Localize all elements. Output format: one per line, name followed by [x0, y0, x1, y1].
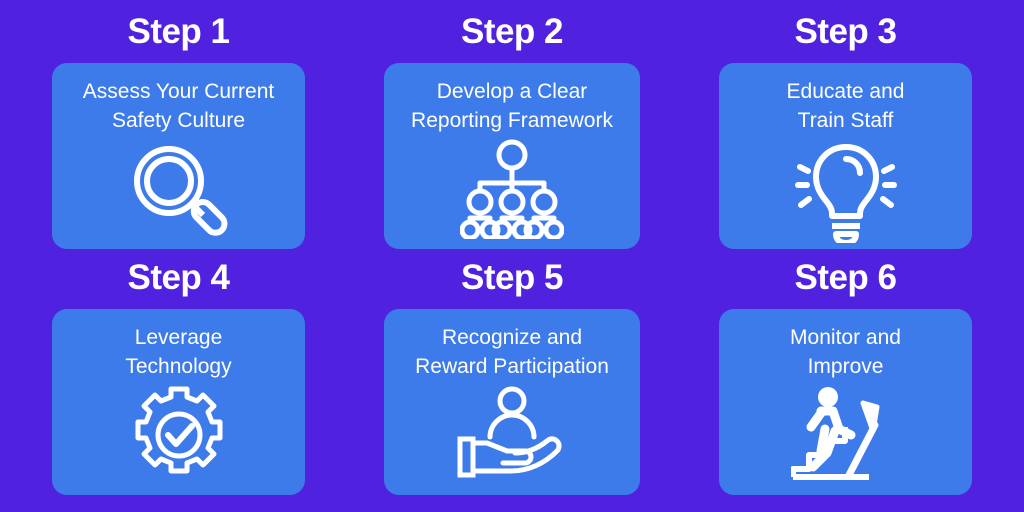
step-title-3: Step 3 [794, 14, 896, 49]
step-card-text-2: Develop a Clear Reporting Framework [411, 77, 613, 135]
magnifier-icon [62, 139, 295, 243]
step-block-5: Step 5 Recognize and Reward Participatio… [384, 246, 640, 512]
step-card-2[interactable]: Develop a Clear Reporting Framework [384, 63, 640, 249]
steps-row-bottom: Step 4 Leverage Technology Step 5 Recogn… [0, 246, 1024, 512]
steps-row-top: Step 1 Assess Your Current Safety Cultur… [0, 0, 1024, 246]
step-card-text-1: Assess Your Current Safety Culture [83, 77, 274, 135]
gear-check-icon [62, 385, 295, 485]
step-title-2: Step 2 [461, 14, 563, 49]
step-card-5[interactable]: Recognize and Reward Participation [384, 309, 640, 495]
org-chart-icon [394, 139, 630, 239]
step-block-1: Step 1 Assess Your Current Safety Cultur… [52, 0, 305, 246]
hand-person-icon [394, 385, 630, 481]
stairs-progress-icon [729, 385, 962, 485]
step-card-text-3: Educate and Train Staff [787, 77, 905, 135]
step-card-1[interactable]: Assess Your Current Safety Culture [52, 63, 305, 249]
step-block-2: Step 2 Develop a Clear Reporting Framewo… [384, 0, 640, 246]
step-block-4: Step 4 Leverage Technology [52, 246, 305, 512]
step-title-4: Step 4 [127, 260, 229, 295]
step-card-6[interactable]: Monitor and Improve [719, 309, 972, 495]
steps-infographic: Step 1 Assess Your Current Safety Cultur… [0, 0, 1024, 512]
lightbulb-icon [729, 139, 962, 243]
step-title-5: Step 5 [461, 260, 563, 295]
step-block-3: Step 3 Educate and Train Staff [719, 0, 972, 246]
step-card-text-6: Monitor and Improve [790, 323, 901, 381]
step-card-text-4: Leverage Technology [125, 323, 231, 381]
step-card-4[interactable]: Leverage Technology [52, 309, 305, 495]
step-card-text-5: Recognize and Reward Participation [415, 323, 609, 381]
step-title-6: Step 6 [794, 260, 896, 295]
step-block-6: Step 6 Monitor and Improve [719, 246, 972, 512]
step-title-1: Step 1 [127, 14, 229, 49]
step-card-3[interactable]: Educate and Train Staff [719, 63, 972, 249]
